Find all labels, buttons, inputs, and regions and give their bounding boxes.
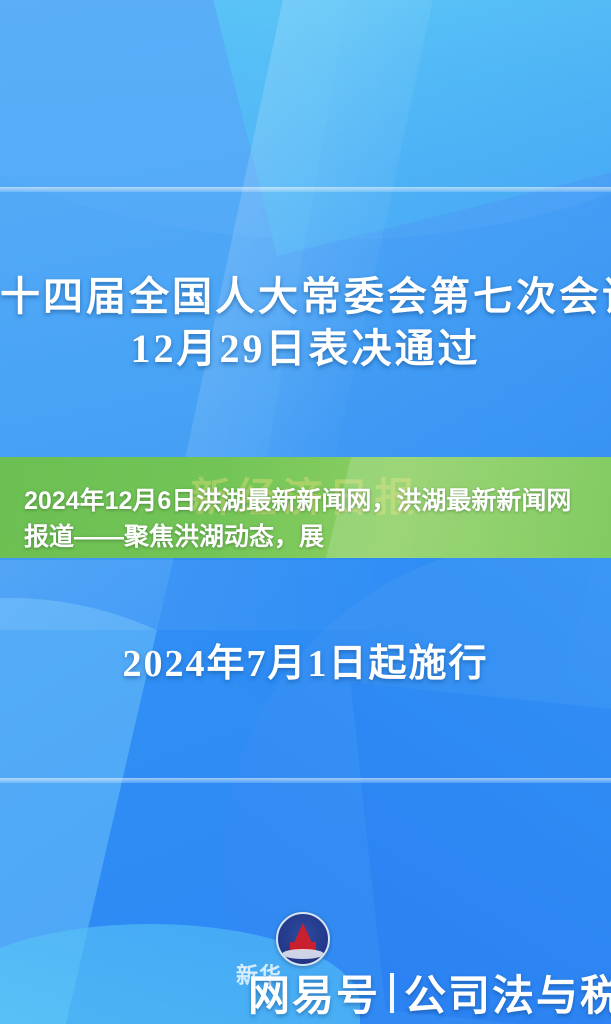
news-banner-image: 十四届全国人大常委会第七次会议 12月29日表决通过 新经济日报 2024年12… (0, 0, 611, 1024)
banner-headline: 十四届全国人大常委会第七次会议 12月29日表决通过 (0, 272, 611, 376)
channel-divider-icon (390, 973, 394, 1013)
channel-label: 公司法与税 (404, 962, 611, 1023)
article-caption-overlay: 2024年12月6日洪湖最新新闻网，洪湖最新新闻网报道——聚焦洪湖动态，展 (24, 484, 587, 555)
divider-line-top (0, 187, 611, 192)
emblem-ring-shape (282, 949, 324, 959)
effective-date-text: 2024年7月1日起施行 (0, 632, 611, 687)
headline-line-2: 12月29日表决通过 (0, 322, 611, 376)
background-glow-band (0, 560, 611, 630)
divider-line-bottom (0, 778, 611, 783)
news-agency-emblem-icon (276, 912, 330, 966)
headline-line-1: 十四届全国人大常委会第七次会议 (0, 272, 611, 322)
channel-attribution-bar: 网易号 公司法与税 (248, 962, 611, 1023)
platform-label: 网易号 (248, 962, 380, 1023)
